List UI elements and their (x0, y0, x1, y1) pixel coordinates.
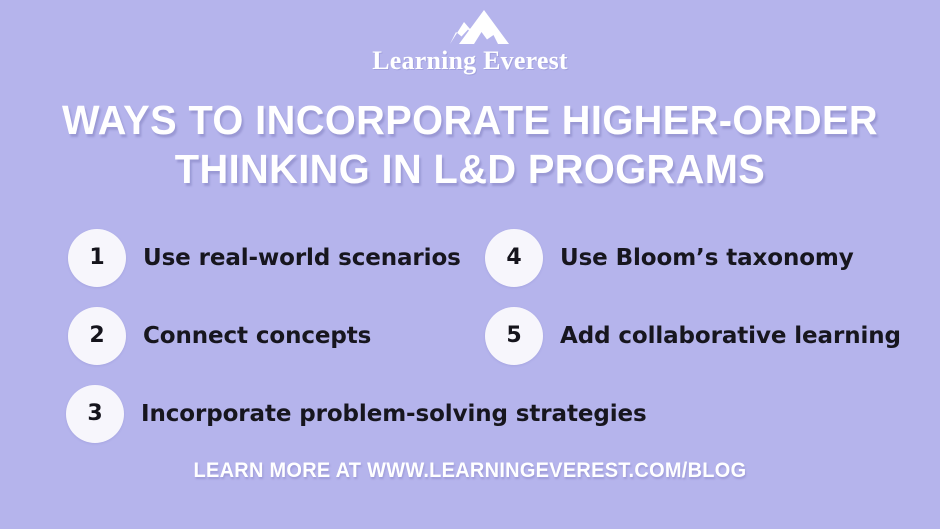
tips-list: 1 Use real-world scenarios 2 Connect con… (0, 228, 940, 446)
brand-wordmark: Learning Everest (372, 47, 568, 75)
page-title: Ways to Incorporate Higher-Order Thinkin… (0, 96, 940, 194)
list-item: 2 Connect concepts (68, 306, 371, 366)
list-item-number: 5 (506, 325, 521, 347)
list-item-label: Use real-world scenarios (143, 244, 461, 272)
mountain-icon (414, 8, 526, 46)
list-item-number-badge: 1 (68, 229, 126, 287)
list-item: 4 Use Bloom’s taxonomy (485, 228, 854, 288)
list-item-number-badge: 5 (485, 307, 543, 365)
list-item-number: 3 (87, 403, 102, 425)
list-item-number: 2 (89, 325, 104, 347)
list-item-label: Connect concepts (143, 322, 371, 350)
list-item-number: 4 (506, 247, 521, 269)
page-title-line-2: Thinking in L&D Programs (14, 145, 926, 194)
list-item-label: Use Bloom’s taxonomy (560, 244, 854, 272)
list-item: 3 Incorporate problem-solving strategies (66, 384, 647, 444)
list-item-number: 1 (89, 247, 104, 269)
footer-cta-text: Learn more at www.learningeverest.com/bl… (194, 458, 747, 484)
infographic-poster: Learning Everest Ways to Incorporate Hig… (0, 0, 940, 529)
page-title-line-1: Ways to Incorporate Higher-Order (14, 96, 926, 145)
list-item-number-badge: 2 (68, 307, 126, 365)
list-item-number-badge: 3 (66, 385, 124, 443)
list-item-label: Incorporate problem-solving strategies (141, 400, 647, 428)
footer-cta: Learn more at www.learningeverest.com/bl… (0, 458, 940, 484)
brand-logo: Learning Everest (0, 8, 940, 75)
list-item-label: Add collaborative learning (560, 322, 901, 350)
list-item: 5 Add collaborative learning (485, 306, 901, 366)
list-item: 1 Use real-world scenarios (68, 228, 461, 288)
list-item-number-badge: 4 (485, 229, 543, 287)
